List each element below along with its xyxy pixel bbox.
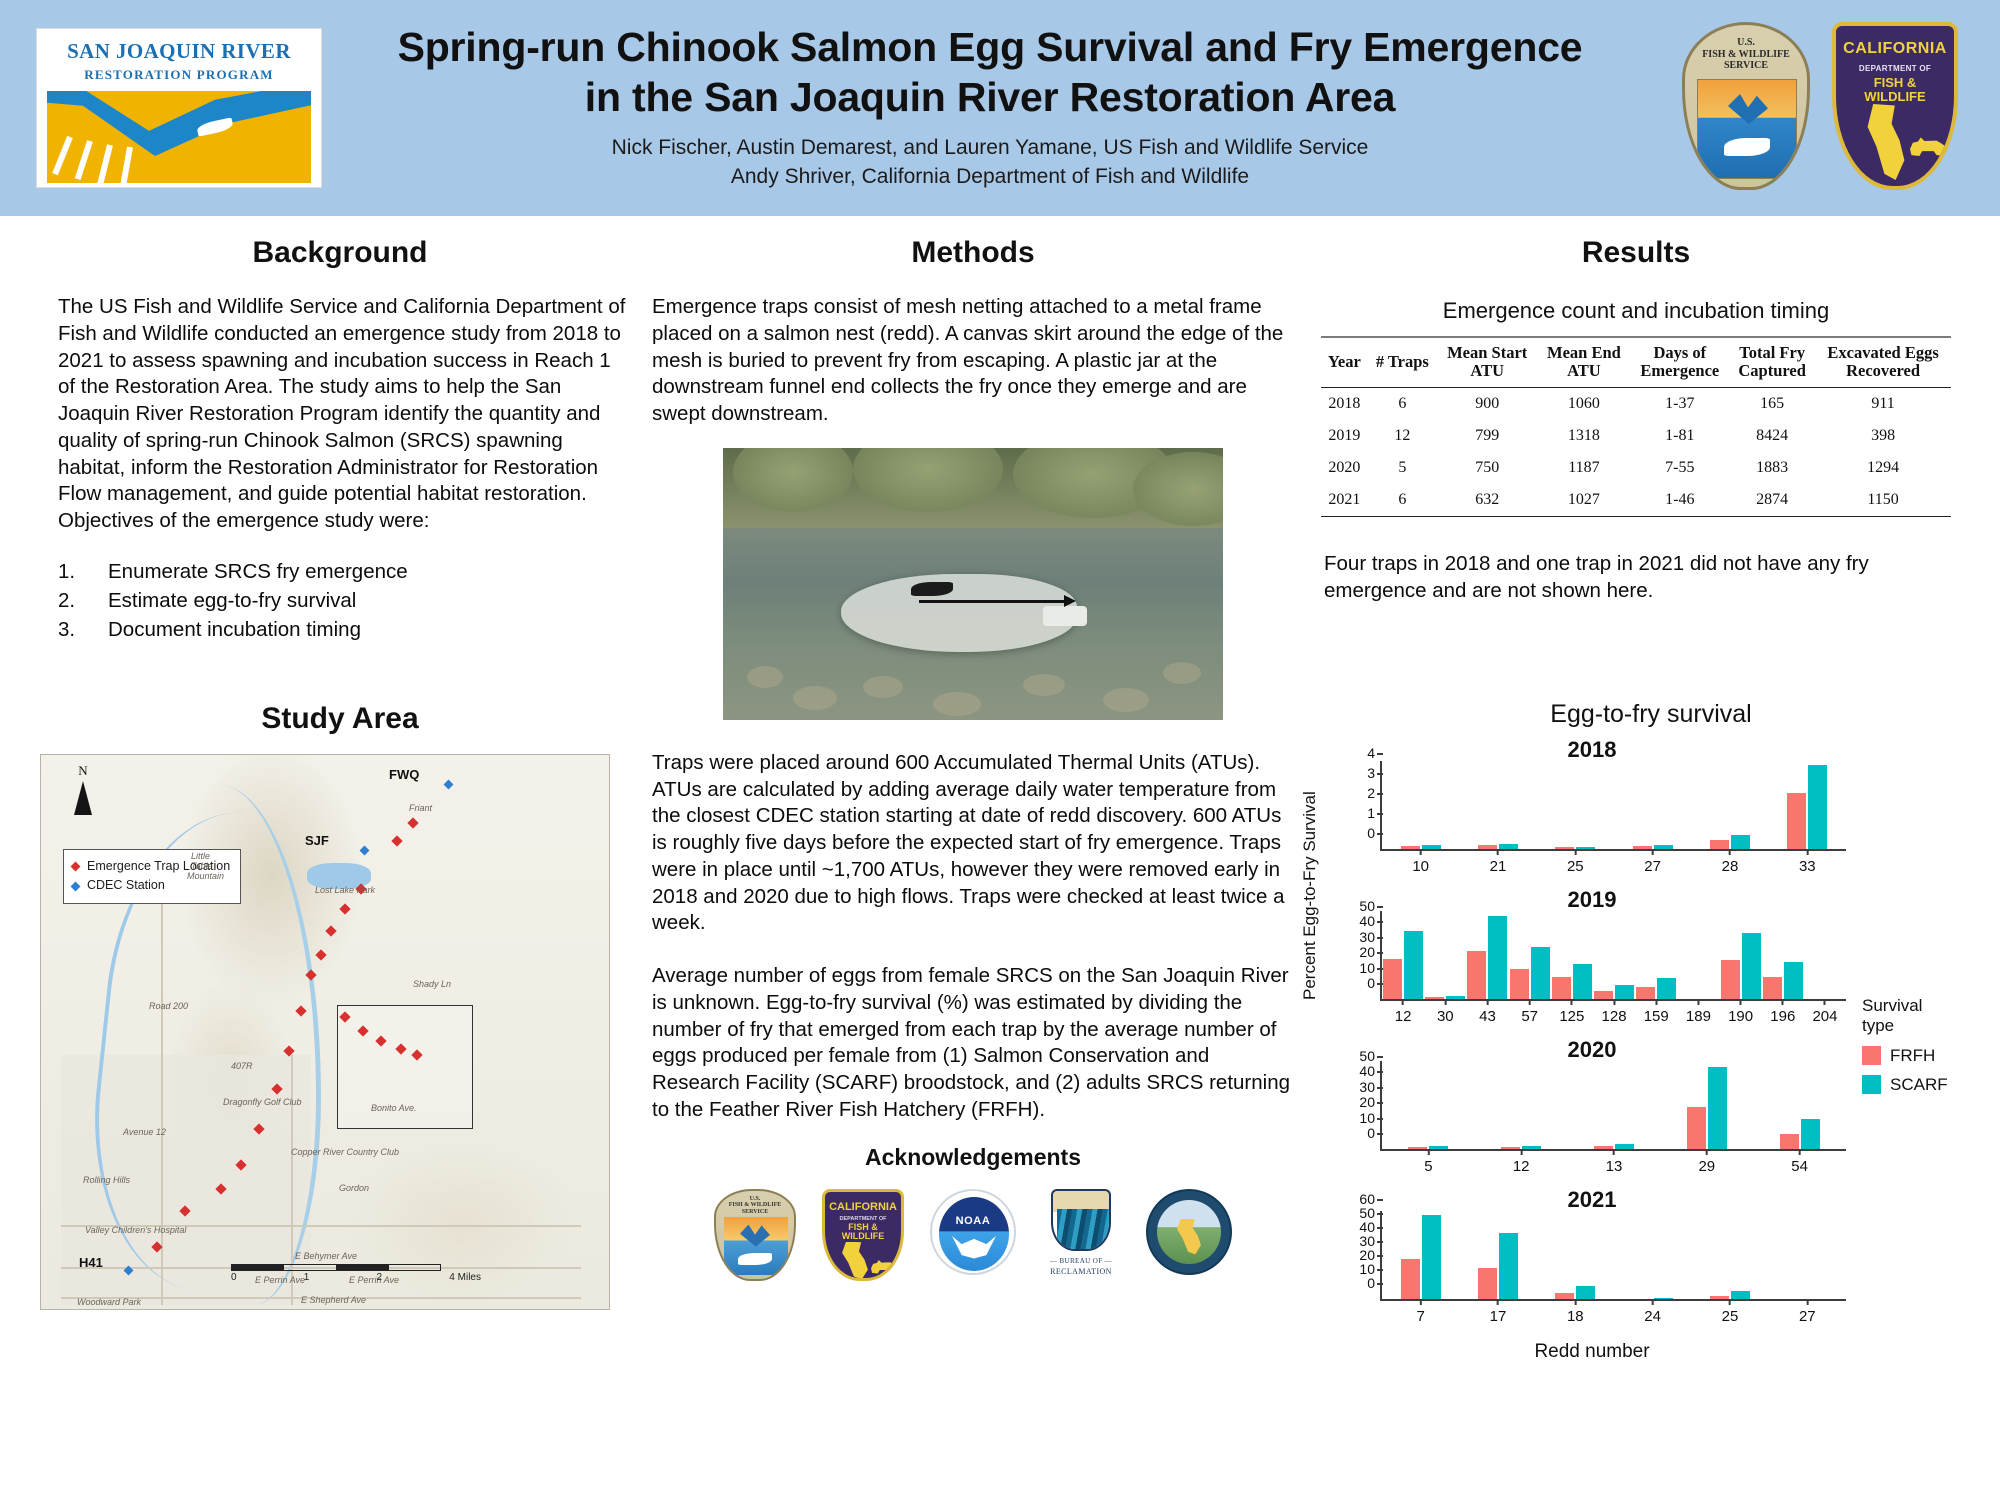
results-note: Four traps in 2018 and one trap in 2021 … xyxy=(1306,551,1966,604)
place-label: Mountain xyxy=(187,871,224,881)
bar-group: 125 xyxy=(1551,911,1593,999)
place-label: Rolling Hills xyxy=(83,1175,130,1185)
chart-y-axis-label: Percent Egg-to-Fry Survival xyxy=(1300,791,1320,1000)
cell-year: 2018 xyxy=(1321,387,1368,420)
place-label: Gordon xyxy=(339,1183,369,1193)
usfws-line-3: SERVICE xyxy=(1685,60,1807,72)
facet-title: 2020 xyxy=(1568,1037,1617,1063)
facet-plot: 102125272833 01234 xyxy=(1380,761,1846,851)
bar-group: 18 xyxy=(1537,1211,1614,1299)
bor-shield xyxy=(1051,1189,1111,1251)
cell-eggs: 1150 xyxy=(1815,484,1951,517)
cell-start-atu: 750 xyxy=(1437,452,1537,484)
north-arrow-icon: N xyxy=(59,763,107,815)
bar-scarf xyxy=(1742,933,1761,999)
x-axis-tick: 54 xyxy=(1791,1149,1808,1175)
title-block: Spring-run Chinook Salmon Egg Survival a… xyxy=(340,22,1640,192)
noaa-circle xyxy=(939,1197,1009,1271)
y-axis-tick: 40 xyxy=(1359,1063,1382,1079)
bor-caption-1: — BUREAU OF — xyxy=(1042,1257,1120,1265)
bar-group: 12 xyxy=(1475,1061,1568,1149)
field-line xyxy=(97,144,112,183)
bar-frfh xyxy=(1594,991,1613,999)
bear-icon xyxy=(871,1258,897,1274)
objective-text: Enumerate SRCS fry emergence xyxy=(108,557,408,586)
bar-frfh xyxy=(1478,1268,1497,1299)
usfws-seal-text: U.S. FISH & WILDLIFE SERVICE xyxy=(1685,37,1807,72)
study-area-title: Study Area xyxy=(40,702,640,736)
bar-groups: 12304357125128159189190196204 xyxy=(1382,911,1846,999)
bar-groups: 512132954 xyxy=(1382,1061,1846,1149)
x-axis-tick: 125 xyxy=(1559,999,1584,1025)
bar-scarf xyxy=(1784,962,1803,999)
bar-frfh xyxy=(1636,987,1655,999)
bar-group: 27 xyxy=(1769,1211,1846,1299)
bar-group: 30 xyxy=(1424,911,1466,999)
bar-frfh xyxy=(1710,840,1729,849)
cell-end-atu: 1060 xyxy=(1537,387,1630,420)
x-axis-tick: 28 xyxy=(1722,849,1739,875)
bar-group: 25 xyxy=(1537,761,1614,849)
place-label: Bonito Ave. xyxy=(371,1103,417,1113)
bar-groups: 102125272833 xyxy=(1382,761,1846,849)
cell-traps: 5 xyxy=(1368,452,1437,484)
bar-group: 24 xyxy=(1614,1211,1691,1299)
y-axis-tick: 4 xyxy=(1367,745,1382,761)
table-header: Year # Traps Mean Start ATU Mean End ATU… xyxy=(1321,337,1951,387)
poster-header: SAN JOAQUIN RIVER RESTORATION PROGRAM Sp… xyxy=(0,0,2000,216)
results-section-title: Results xyxy=(1306,236,1966,270)
egg-to-fry-survival-chart: Egg-to-fry survival Percent Egg-to-Fry S… xyxy=(1306,700,1996,1500)
facet-2020: 2020 512132954 01020304050 xyxy=(1332,1035,1852,1185)
bar-frfh xyxy=(1780,1134,1799,1149)
place-label: E Behymer Ave xyxy=(295,1251,357,1261)
bar-scarf xyxy=(1573,964,1592,1000)
list-item: 2. Estimate egg-to-fry survival xyxy=(58,586,640,615)
x-axis-tick: 43 xyxy=(1479,999,1496,1025)
place-label: Road 200 xyxy=(149,1001,188,1011)
column-header-days-of-emergence: Days of Emergence xyxy=(1630,337,1729,387)
x-axis-tick: 196 xyxy=(1770,999,1795,1025)
objectives-list: 1. Enumerate SRCS fry emergence 2. Estim… xyxy=(40,557,640,644)
legend-label-scarf: SCARF xyxy=(1890,1075,1948,1095)
usfws-logo-caption: U.S. FISH & WILDLIFE SERVICE xyxy=(716,1196,794,1216)
y-axis-tick: 0 xyxy=(1367,975,1382,991)
table-row: 2020 5 750 1187 7-55 1883 1294 xyxy=(1321,452,1951,484)
bar-scarf xyxy=(1657,978,1676,999)
methods-paragraph-3: Average number of eggs from female SRCS … xyxy=(648,963,1298,1124)
bar-frfh xyxy=(1467,951,1486,999)
bar-scarf xyxy=(1708,1067,1727,1149)
duck-icon xyxy=(740,1225,770,1247)
scale-tick: 0 xyxy=(231,1272,237,1283)
objective-number: 3. xyxy=(58,615,108,644)
scale-tick: 2 xyxy=(377,1272,383,1283)
mountain-icon xyxy=(1057,1209,1109,1249)
bar-group: 25 xyxy=(1691,1211,1768,1299)
bar-group: 5 xyxy=(1382,1061,1475,1149)
bar-group: 189 xyxy=(1677,911,1719,999)
cell-year: 2019 xyxy=(1321,420,1368,452)
facet-2019: 2019 12304357125128159189190196204 01020… xyxy=(1332,885,1852,1035)
acknowledgements-title: Acknowledgements xyxy=(648,1144,1298,1171)
column-header-traps: # Traps xyxy=(1368,337,1437,387)
cdfw-fw: FISH & WILDLIFE xyxy=(825,1223,901,1242)
x-axis-tick: 30 xyxy=(1437,999,1454,1025)
arrow-up-icon xyxy=(74,781,92,815)
cell-fry: 2874 xyxy=(1729,484,1815,517)
y-axis-tick: 30 xyxy=(1359,1233,1382,1249)
bar-group: 12 xyxy=(1382,911,1424,999)
bureau-of-reclamation-logo-icon: — BUREAU OF — RECLAMATION xyxy=(1042,1189,1120,1281)
y-axis-tick: 0 xyxy=(1367,1275,1382,1291)
emergence-trap-photo xyxy=(723,448,1223,720)
y-axis-tick: 40 xyxy=(1359,913,1382,929)
chart-title: Egg-to-fry survival xyxy=(1306,700,1996,729)
y-axis-tick: 50 xyxy=(1359,1048,1382,1064)
objective-number: 2. xyxy=(58,586,108,615)
bar-group: 43 xyxy=(1466,911,1508,999)
facet-2021: 2021 71718242527 0102030405060 xyxy=(1332,1185,1852,1335)
place-label: Dragonfly Golf Club xyxy=(223,1097,302,1107)
y-axis-tick: 50 xyxy=(1359,1205,1382,1221)
facet-title: 2018 xyxy=(1568,737,1617,763)
photo-cobble xyxy=(863,676,903,698)
place-label: Table xyxy=(191,861,213,871)
cell-fry: 165 xyxy=(1729,387,1815,420)
x-axis-tick: 25 xyxy=(1722,1299,1739,1325)
usfws-seal-scene xyxy=(1697,79,1797,179)
bar-frfh xyxy=(1510,969,1529,999)
bar-frfh xyxy=(1763,977,1782,999)
collection-jar xyxy=(1043,606,1087,626)
cell-days: 7-55 xyxy=(1630,452,1729,484)
bar-group: 17 xyxy=(1459,1211,1536,1299)
bar-scarf xyxy=(1808,765,1827,849)
noaa-logo-icon: NOAA xyxy=(930,1189,1016,1275)
site-label: H41 xyxy=(79,1255,103,1270)
scale-tick: 1 xyxy=(304,1272,310,1283)
cell-year: 2020 xyxy=(1321,452,1368,484)
bar-frfh xyxy=(1383,959,1402,999)
bar-group: 10 xyxy=(1382,761,1459,849)
bar-scarf xyxy=(1576,1286,1595,1299)
bar-scarf xyxy=(1499,1233,1518,1299)
table-header-row: Year # Traps Mean Start ATU Mean End ATU… xyxy=(1321,337,1951,387)
emergence-trap xyxy=(841,574,1077,652)
y-axis-tick: 2 xyxy=(1367,785,1382,801)
methods-section-title: Methods xyxy=(648,236,1298,270)
cell-end-atu: 1027 xyxy=(1537,484,1630,517)
bar-group: 54 xyxy=(1753,1061,1846,1149)
cdfw-seal-icon: CALIFORNIA DEPARTMENT OF FISH & WILDLIFE xyxy=(1832,22,1958,190)
list-item: 3. Document incubation timing xyxy=(58,615,640,644)
y-axis-tick: 3 xyxy=(1367,765,1382,781)
fish-icon xyxy=(738,1253,772,1265)
y-axis-tick: 20 xyxy=(1359,944,1382,960)
x-axis-tick: 204 xyxy=(1812,999,1837,1025)
cell-fry: 1883 xyxy=(1729,452,1815,484)
cell-days: 1-37 xyxy=(1630,387,1729,420)
bar-group: 33 xyxy=(1769,761,1846,849)
legend-swatch-frfh xyxy=(1862,1046,1881,1065)
bar-group: 204 xyxy=(1804,911,1846,999)
bar-scarf xyxy=(1615,985,1634,999)
column-header-mean-end-atu: Mean End ATU xyxy=(1537,337,1630,387)
cell-start-atu: 632 xyxy=(1437,484,1537,517)
usfws-cap-2: FISH & WILDLIFE xyxy=(716,1202,794,1209)
y-axis-tick: 10 xyxy=(1359,960,1382,976)
facet-plot: 71718242527 0102030405060 xyxy=(1380,1211,1846,1301)
flow-arrow-icon xyxy=(919,600,1065,603)
cell-traps: 6 xyxy=(1368,484,1437,517)
legend-item-frfh: FRFH xyxy=(1862,1046,1992,1066)
cell-fry: 8424 xyxy=(1729,420,1815,452)
background-section-title: Background xyxy=(40,236,640,270)
results-table-caption: Emergence count and incubation timing xyxy=(1306,298,1966,324)
sjrrp-logo-subtitle: RESTORATION PROGRAM xyxy=(37,67,321,83)
objective-text: Estimate egg-to-fry survival xyxy=(108,586,356,615)
site-label: SJF xyxy=(305,833,329,848)
photo-cobble xyxy=(1023,674,1065,696)
x-axis-tick: 10 xyxy=(1412,849,1429,875)
list-item: 1. Enumerate SRCS fry emergence xyxy=(58,557,640,586)
cell-end-atu: 1187 xyxy=(1537,452,1630,484)
facet-title: 2021 xyxy=(1568,1187,1617,1213)
ca-dwr-logo-icon xyxy=(1146,1189,1232,1275)
noaa-label: NOAA xyxy=(932,1215,1014,1227)
scale-ticks: 0 1 2 4 Miles xyxy=(231,1272,481,1283)
usfws-seal-icon: U.S. FISH & WILDLIFE SERVICE xyxy=(1682,22,1810,190)
x-axis-tick: 21 xyxy=(1490,849,1507,875)
y-axis-tick: 60 xyxy=(1359,1191,1382,1207)
authors: Nick Fischer, Austin Demarest, and Laure… xyxy=(340,134,1640,192)
california-shape-icon xyxy=(1866,104,1906,180)
title-line-2: in the San Joaquin River Restoration Are… xyxy=(340,72,1640,122)
place-label: Shady Ln xyxy=(413,979,451,989)
column-header-excavated-eggs-recovered: Excavated Eggs Recovered xyxy=(1815,337,1951,387)
sjrrp-logo: SAN JOAQUIN RIVER RESTORATION PROGRAM xyxy=(36,28,322,188)
page-title: Spring-run Chinook Salmon Egg Survival a… xyxy=(340,22,1640,122)
objective-text: Document incubation timing xyxy=(108,615,361,644)
cell-year: 2021 xyxy=(1321,484,1368,517)
bor-caption-2: RECLAMATION xyxy=(1042,1267,1120,1276)
table-body: 2018 6 900 1060 1-37 165 911 2019 12 799… xyxy=(1321,387,1951,516)
usfws-line-1: U.S. xyxy=(1685,37,1807,49)
place-label: Avenue 12 xyxy=(123,1127,166,1137)
cdfw-dept-label: DEPARTMENT OF xyxy=(1836,64,1954,73)
bar-scarf xyxy=(1531,947,1550,999)
sjrrp-logo-title: SAN JOAQUIN RIVER xyxy=(37,39,321,64)
place-label: 407R xyxy=(231,1061,253,1071)
photo-cobble xyxy=(1163,662,1201,684)
y-axis-tick: 0 xyxy=(1367,825,1382,841)
bar-group: 21 xyxy=(1459,761,1536,849)
bar-group: 57 xyxy=(1509,911,1551,999)
cell-days: 1-81 xyxy=(1630,420,1729,452)
cdfw-state-label: CALIFORNIA xyxy=(1836,40,1954,58)
bar-frfh xyxy=(1787,793,1806,849)
bar-frfh xyxy=(1552,977,1571,999)
bar-scarf xyxy=(1731,835,1750,849)
results-table: Year # Traps Mean Start ATU Mean End ATU… xyxy=(1321,336,1951,517)
field-line xyxy=(75,140,93,180)
bar-scarf xyxy=(1801,1119,1820,1149)
y-axis-tick: 50 xyxy=(1359,898,1382,914)
legend-item-scarf: SCARF xyxy=(1862,1075,1992,1095)
north-label: N xyxy=(78,763,87,778)
photo-cobble xyxy=(933,692,981,716)
column-header-mean-start-atu: Mean Start ATU xyxy=(1437,337,1537,387)
x-axis-tick: 13 xyxy=(1606,1149,1623,1175)
x-axis-tick: 5 xyxy=(1424,1149,1432,1175)
place-label: Valley Children's Hospital xyxy=(85,1225,186,1235)
x-axis-tick: 27 xyxy=(1644,849,1661,875)
title-line-1: Spring-run Chinook Salmon Egg Survival a… xyxy=(340,22,1640,72)
y-axis-tick: 20 xyxy=(1359,1247,1382,1263)
bar-group: 7 xyxy=(1382,1211,1459,1299)
cdfw-logo-icon: CALIFORNIA DEPARTMENT OF FISH & WILDLIFE xyxy=(822,1189,904,1281)
place-label: Copper River Country Club xyxy=(291,1147,399,1157)
y-axis-tick: 20 xyxy=(1359,1094,1382,1110)
photo-cobble xyxy=(747,666,783,688)
x-axis-tick: 12 xyxy=(1513,1149,1530,1175)
cell-eggs: 911 xyxy=(1815,387,1951,420)
bar-groups: 71718242527 xyxy=(1382,1211,1846,1299)
table-row: 2018 6 900 1060 1-37 165 911 xyxy=(1321,387,1951,420)
map-road xyxy=(161,875,163,1305)
column-header-year: Year xyxy=(1321,337,1368,387)
y-axis-tick: 30 xyxy=(1359,929,1382,945)
bar-scarf xyxy=(1488,916,1507,999)
authors-line-1: Nick Fischer, Austin Demarest, and Laure… xyxy=(340,134,1640,163)
bar-group: 29 xyxy=(1660,1061,1753,1149)
cell-eggs: 1294 xyxy=(1815,452,1951,484)
usfws-cap-3: SERVICE xyxy=(716,1209,794,1216)
cell-start-atu: 799 xyxy=(1437,420,1537,452)
photo-cobble xyxy=(1103,688,1149,712)
x-axis-tick: 18 xyxy=(1567,1299,1584,1325)
cell-end-atu: 1318 xyxy=(1537,420,1630,452)
chart-x-axis-label: Redd number xyxy=(1332,1341,1852,1363)
bar-group: 159 xyxy=(1635,911,1677,999)
place-label: E Shepherd Ave xyxy=(301,1295,366,1305)
bar-scarf xyxy=(1422,1215,1441,1299)
facet-title: 2019 xyxy=(1568,887,1617,913)
y-axis-tick: 1 xyxy=(1367,805,1382,821)
cell-eggs: 398 xyxy=(1815,420,1951,452)
legend-title: Survival type xyxy=(1862,996,1992,1037)
bar-frfh xyxy=(1401,1259,1420,1300)
facet-plot: 512132954 01020304050 xyxy=(1380,1061,1846,1151)
x-axis-tick: 159 xyxy=(1644,999,1669,1025)
bar-group: 128 xyxy=(1593,911,1635,999)
place-label: Little xyxy=(191,851,210,861)
x-axis-tick: 128 xyxy=(1602,999,1627,1025)
cdfw-fishwildlife-label: FISH & WILDLIFE xyxy=(1836,76,1954,103)
bar-scarf xyxy=(1731,1291,1750,1299)
study-area-map[interactable]: N Emergence Trap Location CDEC Station xyxy=(40,754,610,1310)
scale-unit: 4 Miles xyxy=(449,1272,481,1283)
map-scale-bar: 0 1 2 4 Miles xyxy=(231,1264,481,1283)
cell-days: 1-46 xyxy=(1630,484,1729,517)
field-line xyxy=(52,136,73,175)
cdec-marker-icon xyxy=(71,881,81,891)
results-column: Results Emergence count and incubation t… xyxy=(1306,236,1966,604)
bar-frfh xyxy=(1721,960,1740,999)
bar-group: 13 xyxy=(1568,1061,1661,1149)
bar-group: 190 xyxy=(1720,911,1762,999)
x-axis-tick: 190 xyxy=(1728,999,1753,1025)
usfws-line-2: FISH & WILDLIFE xyxy=(1685,49,1807,61)
trap-marker-icon xyxy=(71,862,81,872)
bar-frfh xyxy=(1687,1107,1706,1149)
usfws-scene xyxy=(724,1217,788,1275)
methods-paragraph-1: Emergence traps consist of mesh netting … xyxy=(648,294,1298,428)
x-axis-tick: 7 xyxy=(1416,1299,1424,1325)
usfws-logo-icon: U.S. FISH & WILDLIFE SERVICE xyxy=(714,1189,796,1281)
authors-line-2: Andy Shriver, California Department of F… xyxy=(340,163,1640,192)
usfws-cap-1: U.S. xyxy=(716,1196,794,1203)
legend-label: CDEC Station xyxy=(87,876,165,895)
bar-scarf xyxy=(1404,931,1423,999)
x-axis-tick: 189 xyxy=(1686,999,1711,1025)
methods-column: Methods Emergence traps consist of mesh … xyxy=(648,236,1298,1281)
field-line xyxy=(120,146,133,183)
x-axis-tick: 24 xyxy=(1644,1299,1661,1325)
table-row: 2021 6 632 1027 1-46 2874 1150 xyxy=(1321,484,1951,517)
column-header-total-fry-captured: Total Fry Captured xyxy=(1729,337,1815,387)
sjrrp-logo-artwork xyxy=(47,91,311,183)
objective-number: 1. xyxy=(58,557,108,586)
bear-icon xyxy=(1910,134,1946,156)
y-axis-tick: 10 xyxy=(1359,1261,1382,1277)
table-row: 2019 12 799 1318 1-81 8424 398 xyxy=(1321,420,1951,452)
california-shape-icon xyxy=(841,1242,869,1280)
cdfw-state: CALIFORNIA xyxy=(825,1201,901,1213)
duck-icon xyxy=(1728,94,1768,124)
scale-bar-graphic xyxy=(231,1264,441,1271)
y-axis-tick: 0 xyxy=(1367,1125,1382,1141)
cell-traps: 12 xyxy=(1368,420,1437,452)
place-label: Woodward Park xyxy=(77,1297,141,1307)
legend-swatch-scarf xyxy=(1862,1075,1881,1094)
facet-2018: 2018 102125272833 01234 xyxy=(1332,735,1852,885)
acknowledgement-logos: U.S. FISH & WILDLIFE SERVICE CALIFORNIA … xyxy=(648,1189,1298,1281)
cdfw-dept: DEPARTMENT OF xyxy=(825,1216,901,1222)
cell-start-atu: 900 xyxy=(1437,387,1537,420)
fry-icon xyxy=(911,582,953,596)
x-axis-tick: 29 xyxy=(1698,1149,1715,1175)
legend-label-frfh: FRFH xyxy=(1890,1046,1935,1066)
chart-legend: Survival type FRFH SCARF xyxy=(1862,996,1992,1095)
x-axis-tick: 25 xyxy=(1567,849,1584,875)
photo-cobble xyxy=(793,686,837,710)
bar-group: 28 xyxy=(1691,761,1768,849)
background-paragraph: The US Fish and Wildlife Service and Cal… xyxy=(40,294,640,535)
x-axis-tick: 17 xyxy=(1490,1299,1507,1325)
y-axis-tick: 10 xyxy=(1359,1110,1382,1126)
site-label: FWQ xyxy=(389,767,419,782)
x-axis-tick: 12 xyxy=(1395,999,1412,1025)
x-axis-tick: 27 xyxy=(1799,1299,1816,1325)
y-axis-tick: 40 xyxy=(1359,1219,1382,1235)
bar-group: 196 xyxy=(1762,911,1804,999)
place-label: Lost Lake Park xyxy=(315,885,375,895)
y-axis-tick: 30 xyxy=(1359,1079,1382,1095)
fish-icon xyxy=(1724,138,1770,156)
bar-group: 27 xyxy=(1614,761,1691,849)
